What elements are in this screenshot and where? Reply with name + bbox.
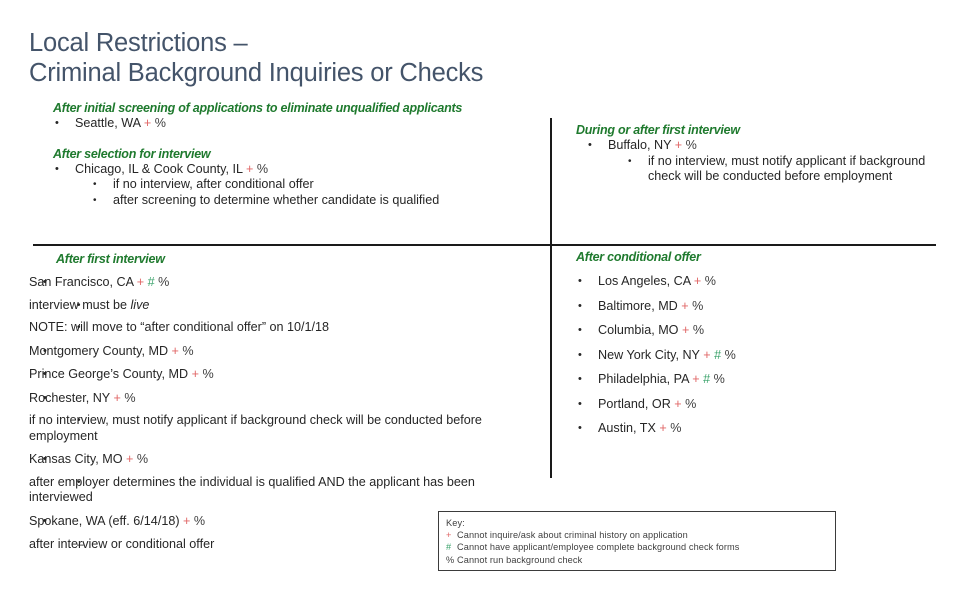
list-item: •Austin, TX + % [566,421,946,437]
bullet-icon: • [43,367,47,383]
slide-canvas: Local Restrictions – Criminal Background… [0,0,957,606]
bullet-icon: • [77,475,81,491]
bullet-icon: • [43,275,47,291]
list-item-label: Prince George’s County, MD [29,367,192,381]
list-item: •San Francisco, CA + # % [29,275,539,291]
list-item: •Baltimore, MD + % [566,299,946,315]
legend-entries: +Cannot inquire/ask about criminal histo… [446,529,835,566]
bullet-icon: • [578,421,582,437]
bullet-icon: • [578,323,582,339]
list-item-label: if no interview, after conditional offer [113,177,314,191]
legend-key-box: Key: +Cannot inquire/ask about criminal … [438,511,836,571]
restriction-symbol-plus: + [192,367,199,381]
section-heading-after-selection-for-interview: After selection for interview [29,146,529,162]
list-item: •New York City, NY + # % [566,348,946,364]
list-item: •Rochester, NY + % [29,391,539,407]
restriction-symbol-percent: % [155,275,170,289]
list-item: •if no interview, must notify applicant … [576,154,944,185]
list-item: •if no interview, must notify applicant … [29,413,539,444]
restriction-symbol-plus: + [113,391,120,405]
vertical-divider [550,118,552,478]
restriction-symbol-percent: % [121,391,136,405]
restriction-symbol-percent: % [199,367,214,381]
bullet-icon: • [77,413,81,429]
legend-symbol-hash: # [446,541,457,553]
legend-description: Cannot run background check [457,555,582,565]
restriction-symbol-percent: % [682,397,697,411]
list-item: •Philadelphia, PA + # % [566,372,946,388]
legend-title: Key: [446,517,835,529]
restriction-symbol-hash: # [700,372,711,386]
list-item-label: Chicago, IL & Cook County, IL [75,162,246,176]
restriction-symbol-percent: % [721,348,736,362]
quadrant-bottom-left: After first interview •San Francisco, CA… [29,251,539,553]
list-item-label: New York City, NY [598,348,703,362]
section-heading-after-initial-screening: After initial screening of applications … [29,100,529,116]
list-item: •if no interview, after conditional offe… [29,177,529,193]
horizontal-divider [33,244,936,246]
quadrant-bottom-right: After conditional offer •Los Angeles, CA… [566,249,946,437]
list-item: •Columbia, MO + % [566,323,946,339]
list-item: •after screening to determine whether ca… [29,193,529,209]
restriction-symbol-percent: % [667,421,682,435]
page-title-line-2: Criminal Background Inquiries or Checks [29,58,729,88]
restriction-symbol-plus: + [681,299,688,313]
legend-description: Cannot inquire/ask about criminal histor… [457,530,688,540]
bullet-icon: • [43,391,47,407]
list-item-label: Rochester, NY [29,391,113,405]
list-item-emphasis: live [131,298,150,312]
section-heading-during-or-after-first-interview: During or after first interview [576,122,944,138]
list-item: •interview must be live [29,298,539,314]
restriction-symbol-percent: % [689,323,704,337]
restriction-symbol-plus: + [659,421,666,435]
quadrant-top-left: After initial screening of applications … [29,100,529,208]
list-item-label: Portland, OR [598,397,674,411]
list-item-label: Buffalo, NY [608,138,675,152]
bullet-icon: • [43,514,47,530]
bullet-icon: • [93,177,97,193]
bullet-icon: • [55,162,59,178]
list-item: •Prince George’s County, MD + % [29,367,539,383]
legend-entry: %Cannot run background check [446,554,835,566]
list-item-label: Philadelphia, PA [598,372,692,386]
list-item-label: NOTE: will move to “after conditional of… [29,320,329,334]
list-item: •Chicago, IL & Cook County, IL + % [29,162,529,178]
bullet-icon: • [578,348,582,364]
list-item-label: Spokane, WA (eff. 6/14/18) [29,514,183,528]
restriction-symbol-percent: % [689,299,704,313]
bullet-icon: • [578,274,582,290]
list-item: •Los Angeles, CA + % [566,274,946,290]
list-top-left-a: •Seattle, WA + % [29,116,529,132]
restriction-symbol-percent: % [710,372,725,386]
bullet-icon: • [578,397,582,413]
section-heading-after-conditional-offer: After conditional offer [566,249,946,265]
list-item-label: if no interview, must notify applicant i… [648,154,925,184]
restriction-symbol-hash: # [144,275,155,289]
restriction-symbol-plus: + [674,397,681,411]
list-item-label: Los Angeles, CA [598,274,694,288]
list-item: •NOTE: will move to “after conditional o… [29,320,539,336]
restriction-symbol-percent: % [701,274,716,288]
legend-entry: +Cannot inquire/ask about criminal histo… [446,529,835,541]
restriction-symbol-hash: # [711,348,722,362]
list-item: •Portland, OR + % [566,397,946,413]
list-item-label: Columbia, MO [598,323,682,337]
bullet-icon: • [77,320,81,336]
list-item: •Seattle, WA + % [29,116,529,132]
list-item: •Montgomery County, MD + % [29,344,539,360]
restriction-symbol-plus: + [172,344,179,358]
list-item-label: Montgomery County, MD [29,344,172,358]
restriction-symbol-percent: % [190,514,205,528]
restriction-symbol-percent: % [179,344,194,358]
quadrant-top-right: During or after first interview •Buffalo… [576,122,944,185]
list-item-label: after interview or conditional offer [29,537,214,551]
restriction-symbol-plus: + [675,138,682,152]
bullet-icon: • [43,452,47,468]
list-bottom-right: •Los Angeles, CA + %•Baltimore, MD + %•C… [566,274,946,437]
list-item: •after employer determines the individua… [29,475,539,506]
legend-description: Cannot have applicant/employee complete … [457,542,740,552]
list-top-left-b: •Chicago, IL & Cook County, IL + %•if no… [29,162,529,209]
legend-symbol-plus: + [446,529,457,541]
restriction-symbol-percent: % [682,138,697,152]
list-item-label: after employer determines the individual… [29,475,475,505]
bullet-icon: • [578,372,582,388]
list-item-label: Baltimore, MD [598,299,681,313]
legend-entry: #Cannot have applicant/employee complete… [446,541,835,553]
bullet-icon: • [43,344,47,360]
restriction-symbol-percent: % [133,452,148,466]
restriction-symbol-plus: + [703,348,710,362]
list-item: •Buffalo, NY + % [576,138,944,154]
bullet-icon: • [578,299,582,315]
list-item-label: Austin, TX [598,421,659,435]
list-item-label: after screening to determine whether can… [113,193,439,207]
bullet-icon: • [588,138,592,154]
list-item-label: Seattle, WA [75,116,144,130]
dash-icon: – [77,537,84,553]
restriction-symbol-percent: % [253,162,268,176]
bullet-icon: • [55,116,59,132]
page-title: Local Restrictions – Criminal Background… [29,28,729,88]
section-heading-after-first-interview: After first interview [29,251,539,267]
bullet-icon: • [628,154,632,170]
restriction-symbol-plus: + [692,372,699,386]
list-item: •Kansas City, MO + % [29,452,539,468]
legend-symbol-percent: % [446,554,457,566]
restriction-symbol-percent: % [151,116,166,130]
bullet-icon: • [93,193,97,209]
list-item-label: if no interview, must notify applicant i… [29,413,482,443]
bullet-icon: • [77,298,81,314]
list-top-right: •Buffalo, NY + %•if no interview, must n… [576,138,944,185]
page-title-line-1: Local Restrictions – [29,28,729,58]
